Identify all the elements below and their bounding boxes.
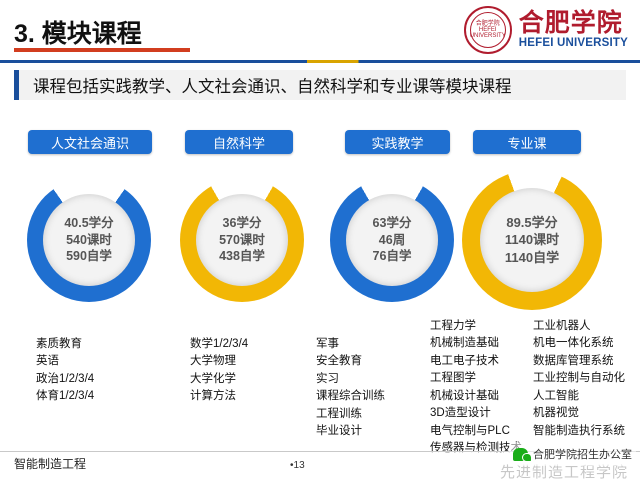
donut-value-line: 89.5学分 bbox=[506, 214, 557, 231]
course-item: 实习 bbox=[316, 371, 385, 388]
column-header-3: 实践教学 bbox=[345, 130, 450, 154]
course-item: 英语 bbox=[36, 353, 94, 370]
donut-value-line: 438自学 bbox=[219, 248, 265, 265]
course-item: 智能制造执行系统 bbox=[533, 423, 625, 440]
course-item: 工业控制与自动化 bbox=[533, 370, 625, 387]
course-list-3: 军事 安全教育 实习 课程综合训练 工程训练 毕业设计 bbox=[316, 336, 385, 441]
donut-value-line: 36学分 bbox=[223, 215, 262, 232]
course-item: 机械制造基础 bbox=[430, 335, 522, 352]
donut-value-line: 76自学 bbox=[373, 248, 412, 265]
course-item: 军事 bbox=[316, 336, 385, 353]
donut-label-3: 63学分 46周 76自学 bbox=[346, 194, 438, 286]
course-item: 人工智能 bbox=[533, 388, 625, 405]
donut-chart-1: 40.5学分 540课时 590自学 bbox=[27, 178, 151, 302]
course-list-2: 数学1/2/3/4 大学物理 大学化学 计算方法 bbox=[190, 336, 248, 406]
course-item: 素质教育 bbox=[36, 336, 94, 353]
course-item: 工业机器人 bbox=[533, 318, 625, 335]
donut-label-1: 40.5学分 540课时 590自学 bbox=[43, 194, 135, 286]
donut-value-line: 46周 bbox=[379, 232, 405, 249]
course-item: 大学化学 bbox=[190, 371, 248, 388]
course-list-5: 工业机器人 机电一体化系统 数据库管理系统 工业控制与自动化 人工智能 机器视觉… bbox=[533, 318, 625, 440]
logo-english-name: HEFEI UNIVERSITY bbox=[519, 38, 628, 50]
course-item: 体育1/2/3/4 bbox=[36, 388, 94, 405]
course-item: 电工电子技术 bbox=[430, 353, 522, 370]
course-item: 课程综合训练 bbox=[316, 388, 385, 405]
title-underline bbox=[14, 48, 190, 52]
course-list-4: 工程力学 机械制造基础 电工电子技术 工程图学 机械设计基础 3D造型设计 电气… bbox=[430, 318, 522, 458]
course-item: 计算方法 bbox=[190, 388, 248, 405]
donut-label-4: 89.5学分 1140课时 1140自学 bbox=[480, 188, 584, 292]
course-item: 机器视觉 bbox=[533, 405, 625, 422]
course-item: 工程力学 bbox=[430, 318, 522, 335]
course-item: 工程训练 bbox=[316, 406, 385, 423]
page-title: 3. 模块课程 bbox=[14, 14, 142, 50]
column-header-1: 人文社会通识 bbox=[28, 130, 152, 154]
course-item: 3D造型设计 bbox=[430, 405, 522, 422]
logo-text: 合肥学院 HEFEI UNIVERSITY bbox=[519, 11, 628, 50]
university-logo: 合肥学院 HEFEI UNIVERSITY 合肥学院 HEFEI UNIVERS… bbox=[464, 6, 628, 54]
seal-inner-text: 合肥学院 HEFEI UNIVERSITY bbox=[470, 12, 506, 48]
donut-label-2: 36学分 570课时 438自学 bbox=[196, 194, 288, 286]
course-item: 工程图学 bbox=[430, 370, 522, 387]
slide: 3. 模块课程 合肥学院 HEFEI UNIVERSITY 合肥学院 HEFEI… bbox=[0, 0, 640, 480]
donut-value-line: 540课时 bbox=[66, 232, 112, 249]
course-item: 电气控制与PLC bbox=[430, 423, 522, 440]
wechat-badge: 合肥学院招生办公室 bbox=[509, 442, 636, 466]
course-item: 数据库管理系统 bbox=[533, 353, 625, 370]
wechat-icon bbox=[513, 448, 528, 461]
course-item: 数学1/2/3/4 bbox=[190, 336, 248, 353]
donut-value-line: 63学分 bbox=[373, 215, 412, 232]
donut-value-line: 590自学 bbox=[66, 248, 112, 265]
course-item: 政治1/2/3/4 bbox=[36, 371, 94, 388]
column-header-2: 自然科学 bbox=[185, 130, 293, 154]
course-item: 安全教育 bbox=[316, 353, 385, 370]
wechat-label: 合肥学院招生办公室 bbox=[533, 446, 632, 462]
donut-value-line: 1140自学 bbox=[505, 249, 559, 266]
course-list-1: 素质教育 英语 政治1/2/3/4 体育1/2/3/4 bbox=[36, 336, 94, 406]
course-item: 毕业设计 bbox=[316, 423, 385, 440]
footer-major-name: 智能制造工程 bbox=[14, 455, 86, 472]
page-number: •13 bbox=[290, 460, 305, 471]
logo-chinese-name: 合肥学院 bbox=[519, 11, 628, 36]
donut-value-line: 1140课时 bbox=[505, 231, 559, 248]
header-divider bbox=[0, 60, 640, 63]
donut-chart-2: 36学分 570课时 438自学 bbox=[180, 178, 304, 302]
course-item: 机电一体化系统 bbox=[533, 335, 625, 352]
column-header-4: 专业课 bbox=[473, 130, 581, 154]
university-seal-icon: 合肥学院 HEFEI UNIVERSITY bbox=[464, 6, 512, 54]
donut-chart-4: 89.5学分 1140课时 1140自学 bbox=[462, 170, 602, 310]
course-item: 大学物理 bbox=[190, 353, 248, 370]
donut-value-line: 570课时 bbox=[219, 232, 265, 249]
donut-value-line: 40.5学分 bbox=[64, 215, 113, 232]
course-item: 机械设计基础 bbox=[430, 388, 522, 405]
donut-chart-3: 63学分 46周 76自学 bbox=[330, 178, 454, 302]
subtitle-bar: 课程包括实践教学、人文社会通识、自然科学和专业课等模块课程 bbox=[14, 70, 626, 100]
